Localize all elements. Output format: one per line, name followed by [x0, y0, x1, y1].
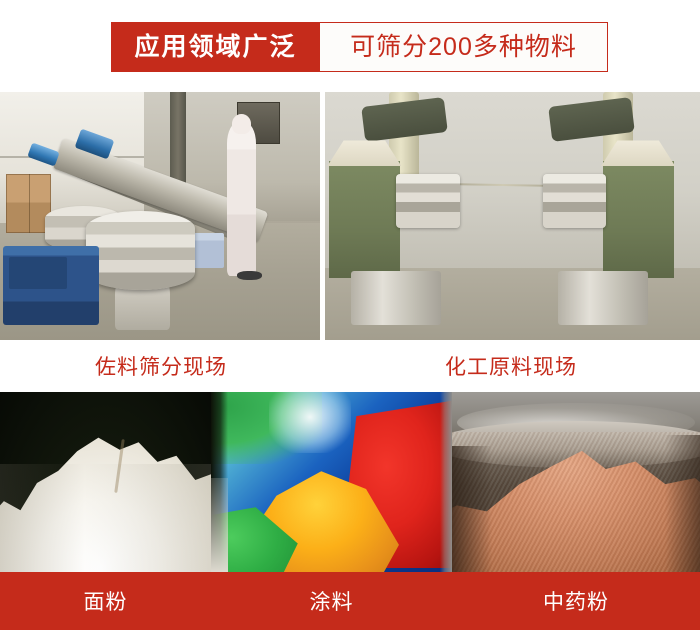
- photo5-left-shadow: [452, 446, 492, 572]
- top-gallery: [0, 92, 700, 340]
- photo1-blue-bin: [3, 246, 99, 325]
- header-tag-badge: 应用领域广泛: [111, 22, 320, 72]
- photo-chemical-material-site: [325, 92, 700, 340]
- bottom-label-bar: 面粉 涂料 中药粉: [0, 572, 700, 630]
- photo-spice-sieving-site: [0, 92, 320, 340]
- header-banner: 应用领域广泛 可筛分200多种物料: [111, 22, 608, 72]
- photo-chinese-medicine-powder: [452, 392, 700, 572]
- header-claim-badge: 可筛分200多种物料: [320, 22, 608, 72]
- photo4-white-highlight: [269, 392, 351, 453]
- top-gallery-captions: 佐料筛分现场 化工原料现场: [0, 340, 700, 392]
- photo1-worker-head: [232, 114, 251, 134]
- photo2-drum-right: [558, 271, 648, 326]
- photo5-right-shadow: [665, 435, 700, 572]
- bottom-gallery: [0, 392, 700, 572]
- photo1-main-vibrating-sieve: [86, 211, 195, 290]
- photo1-plastic-stool: [192, 233, 224, 268]
- photo4-left-edge: [211, 392, 228, 572]
- label-flour: 面粉: [0, 572, 211, 630]
- photo4-right-edge: [440, 392, 452, 572]
- photo2-green-hopper-left: [329, 161, 400, 278]
- photo2-sieve-right: [543, 174, 607, 229]
- photo2-sieve-left: [396, 174, 460, 229]
- photo-coating-pigments: [211, 392, 452, 572]
- photo3-shading: [0, 464, 211, 572]
- label-chinese-medicine-powder: 中药粉: [452, 572, 700, 630]
- photo2-green-hopper-right: [603, 161, 674, 278]
- photo2-drum-left: [351, 271, 441, 326]
- label-coating: 涂料: [211, 572, 452, 630]
- photo1-worker-body: [227, 122, 256, 276]
- caption-spice-sieving-site: 佐料筛分现场: [0, 340, 322, 392]
- photo1-worker-shoe: [237, 271, 263, 281]
- photo-flour: [0, 392, 211, 572]
- caption-chemical-material-site: 化工原料现场: [322, 340, 700, 392]
